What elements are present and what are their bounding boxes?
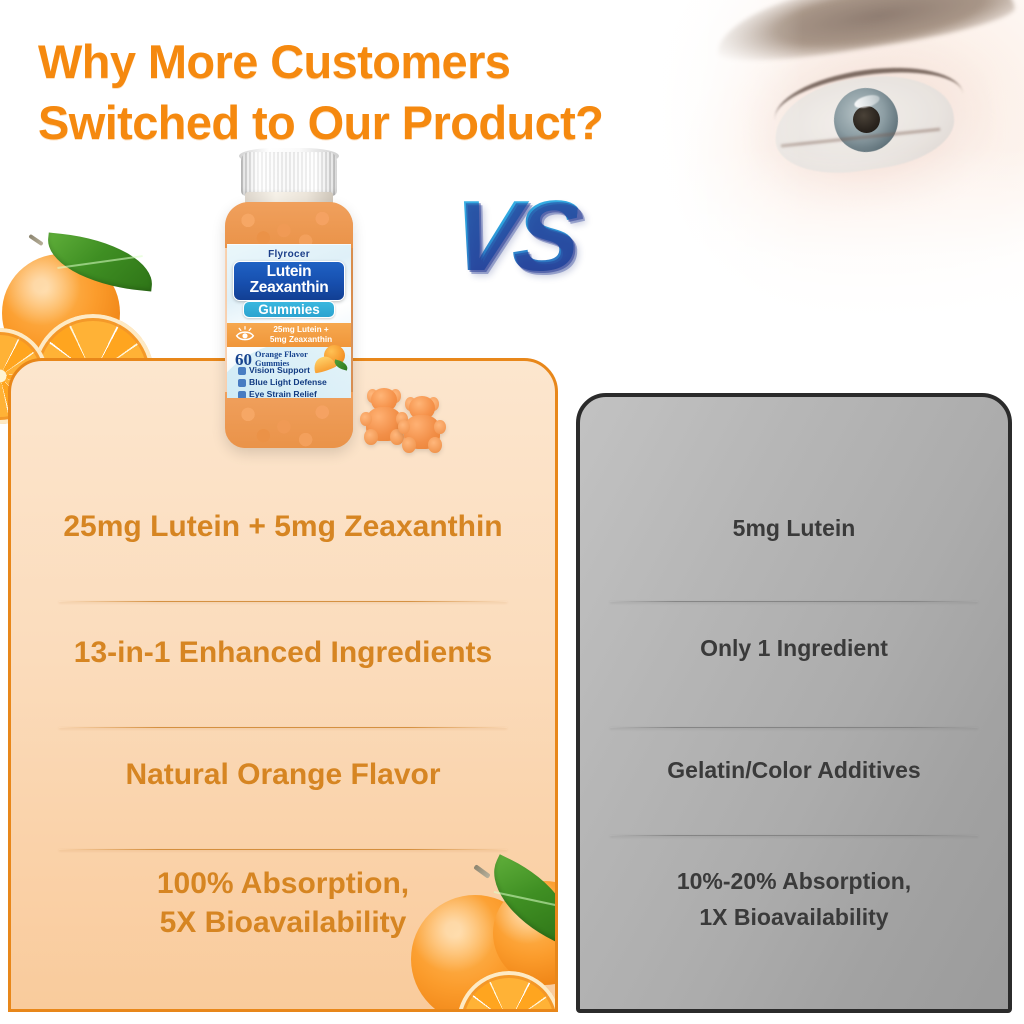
- competitor-divider-1: [610, 601, 978, 602]
- eye-icon: [235, 325, 255, 345]
- eyeshadow: [735, 21, 1006, 224]
- product-bottle: Flyrocer Lutein Zeaxanthin Gummies 25mg …: [215, 152, 363, 452]
- competitor-feature-row-1: 5mg Lutein: [580, 499, 1008, 559]
- benefit-label: Vision Support: [249, 365, 310, 377]
- iris: [830, 84, 902, 156]
- our-feature-row-4: 100% Absorption, 5X Bioavailability: [11, 853, 555, 953]
- our-divider-3: [59, 849, 507, 850]
- shield-icon: [238, 379, 246, 387]
- versus-badge: VS: [447, 186, 581, 286]
- bear-leg: [428, 437, 442, 453]
- eye-highlight: [853, 93, 881, 111]
- bear-leg: [402, 437, 416, 453]
- sclera: [768, 66, 959, 182]
- competitor-divider-3: [610, 835, 978, 836]
- dosage-text: 25mg Lutein + 5mg Zeaxanthin: [255, 325, 351, 344]
- product-title: Lutein Zeaxanthin: [233, 261, 345, 301]
- gummy-bear-right: [399, 396, 445, 452]
- bear-leg: [364, 429, 378, 445]
- comparison-infographic: Why More Customers Switched to Our Produ…: [0, 0, 1024, 1024]
- bottle-label: Flyrocer Lutein Zeaxanthin Gummies 25mg …: [227, 244, 351, 398]
- competitor-panel: 5mg Lutein Only 1 Ingredient Gelatin/Col…: [576, 393, 1012, 1013]
- lower-lashline: [781, 128, 943, 175]
- bear-arm: [434, 420, 446, 435]
- orange-stem: [28, 234, 44, 246]
- eyebrow: [711, 0, 1018, 71]
- gummies-inside-bottom: [225, 392, 353, 448]
- our-divider-2: [59, 727, 507, 728]
- brand-name: Flyrocer: [227, 249, 351, 260]
- bear-arm: [360, 412, 372, 427]
- pupil: [853, 106, 880, 133]
- competitor-feature-row-2: Only 1 Ingredient: [580, 619, 1008, 679]
- gummies-inside-top: [225, 202, 353, 248]
- eye-strain-icon: [238, 391, 246, 398]
- bottle-body: Flyrocer Lutein Zeaxanthin Gummies 25mg …: [225, 202, 353, 448]
- competitor-feature-row-3: Gelatin/Color Additives: [580, 741, 1008, 801]
- bear-arm: [398, 420, 410, 435]
- our-feature-row-2: 13-in-1 Enhanced Ingredients: [11, 617, 555, 687]
- product-subtitle: Gummies: [243, 301, 335, 318]
- page-title: Why More Customers Switched to Our Produ…: [38, 32, 738, 153]
- vision-icon: [238, 367, 246, 375]
- benefit-item-eye-strain-relief: Eye Strain Relief: [238, 389, 327, 398]
- competitor-feature-row-4: 10%-20% Absorption, 1X Bioavailability: [580, 855, 1008, 945]
- our-divider-1: [59, 601, 507, 602]
- orange-slice: [457, 971, 558, 1012]
- dosage-band: 25mg Lutein + 5mg Zeaxanthin: [227, 323, 351, 347]
- benefit-item-blue-light-defense: Blue Light Defense: [238, 377, 327, 389]
- our-feature-row-3: Natural Orange Flavor: [11, 739, 555, 809]
- benefit-label: Eye Strain Relief: [249, 389, 317, 398]
- bottle-cap: [241, 152, 337, 196]
- upper-lashline: [770, 57, 964, 127]
- benefit-item-vision-support: Vision Support: [238, 365, 327, 377]
- benefits-list: Vision Support Blue Light Defense Eye St…: [238, 365, 327, 398]
- benefit-label: Blue Light Defense: [249, 377, 327, 389]
- orange-leaf: [44, 232, 156, 291]
- competitor-divider-2: [610, 727, 978, 728]
- whole-orange: [2, 254, 120, 372]
- our-feature-row-1: 25mg Lutein + 5mg Zeaxanthin: [11, 491, 555, 561]
- our-product-panel: 25mg Lutein + 5mg Zeaxanthin 13-in-1 Enh…: [8, 358, 558, 1012]
